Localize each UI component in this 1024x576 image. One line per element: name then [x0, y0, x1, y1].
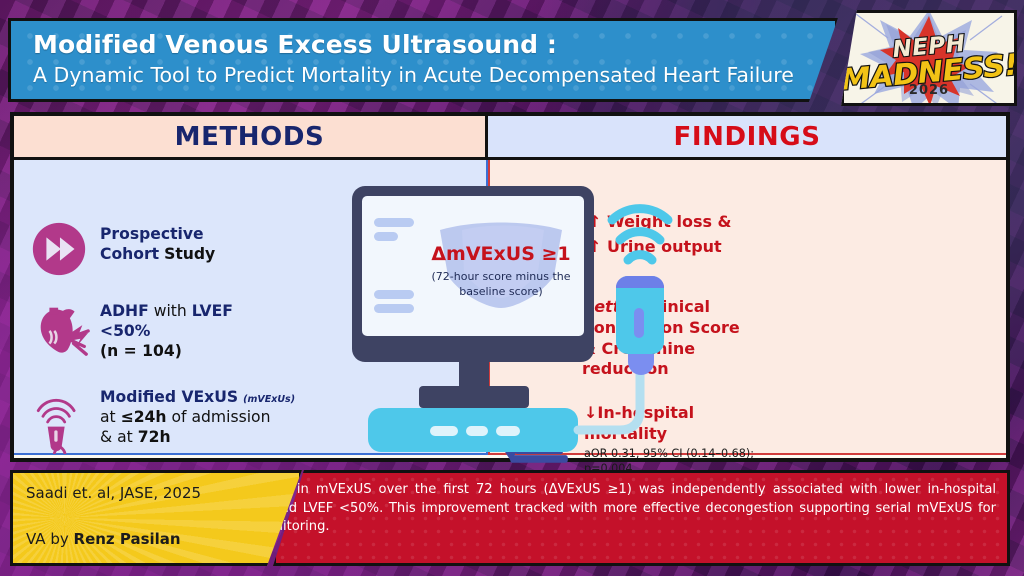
citation-text: Saadi et. al, JASE, 2025 — [26, 484, 201, 502]
methods-pop-n: (n = 104) — [100, 342, 182, 360]
ultrasound-probe-icon — [28, 388, 100, 452]
va-author-name: Renz Pasilan — [74, 530, 181, 548]
methods-item-vexus: Modified VExUS (mVExUs) at ≤24h of admis… — [28, 388, 295, 452]
infographic-root: Modified Venous Excess Ultrasound : A Dy… — [0, 0, 1024, 576]
va-prefix: VA by — [26, 530, 69, 548]
neph-madness-logo: NEPH MADNESS! 2026 — [841, 10, 1017, 106]
methods-item-population: ADHF with LVEF <50% (n = 104) — [28, 298, 233, 362]
methods-vexus-l3b: 72h — [138, 428, 171, 446]
ultrasound-illustration: ΔmVExUS ≥1 (72-hour score minus the base… — [344, 168, 674, 458]
methods-design-line2a: Cohort — [100, 245, 159, 263]
methods-pop-threshold: <50% — [100, 322, 150, 340]
probe-cable — [578, 368, 640, 430]
screen-sub-line2: baseline score) — [459, 285, 542, 298]
methods-header-label: METHODS — [175, 122, 325, 152]
methods-vexus-abbrev: (mVExUs) — [243, 394, 295, 405]
logo-year: 2026 — [844, 83, 1014, 98]
section-header-row: METHODS FINDINGS — [14, 116, 1006, 160]
page-subtitle: A Dynamic Tool to Predict Mortality in A… — [33, 63, 835, 89]
methods-vexus-l2a: at — [100, 408, 116, 426]
methods-vexus-l3a: & at — [100, 428, 133, 446]
screen-delta-title: ΔmVExUS ≥1 — [431, 243, 570, 265]
methods-design-line2b: Study — [164, 245, 215, 263]
methods-header: METHODS — [14, 116, 488, 157]
findings-header-label: FINDINGS — [673, 122, 820, 152]
title-banner: Modified Venous Excess Ultrasound : A Dy… — [8, 18, 838, 102]
screen-sub-line1: (72-hour score minus the — [432, 270, 571, 283]
findings-header: FINDINGS — [488, 116, 1006, 157]
visual-abstract-credit: VA by Renz Pasilan — [26, 530, 181, 548]
footer: Conclusion: A ≥1-point reduction in mVEx… — [10, 470, 1010, 566]
methods-vexus-l2c: of admission — [171, 408, 270, 426]
page-title: Modified Venous Excess Ultrasound : — [33, 30, 835, 60]
heart-icon — [28, 298, 100, 362]
methods-pop-lvef: LVEF — [192, 302, 233, 320]
methods-design-line1: Prospective — [100, 225, 204, 243]
methods-vexus-l2b: ≤24h — [121, 408, 167, 426]
fast-forward-icon — [28, 218, 100, 282]
signal-waves-icon — [612, 209, 668, 260]
methods-vexus-title: Modified VExUS — [100, 388, 238, 406]
methods-item-design: Prospective Cohort Study — [28, 218, 215, 282]
main-content-card: METHODS FINDINGS — [10, 112, 1010, 462]
methods-pop-adhf: ADHF — [100, 302, 149, 320]
methods-pop-with: with — [154, 302, 187, 320]
